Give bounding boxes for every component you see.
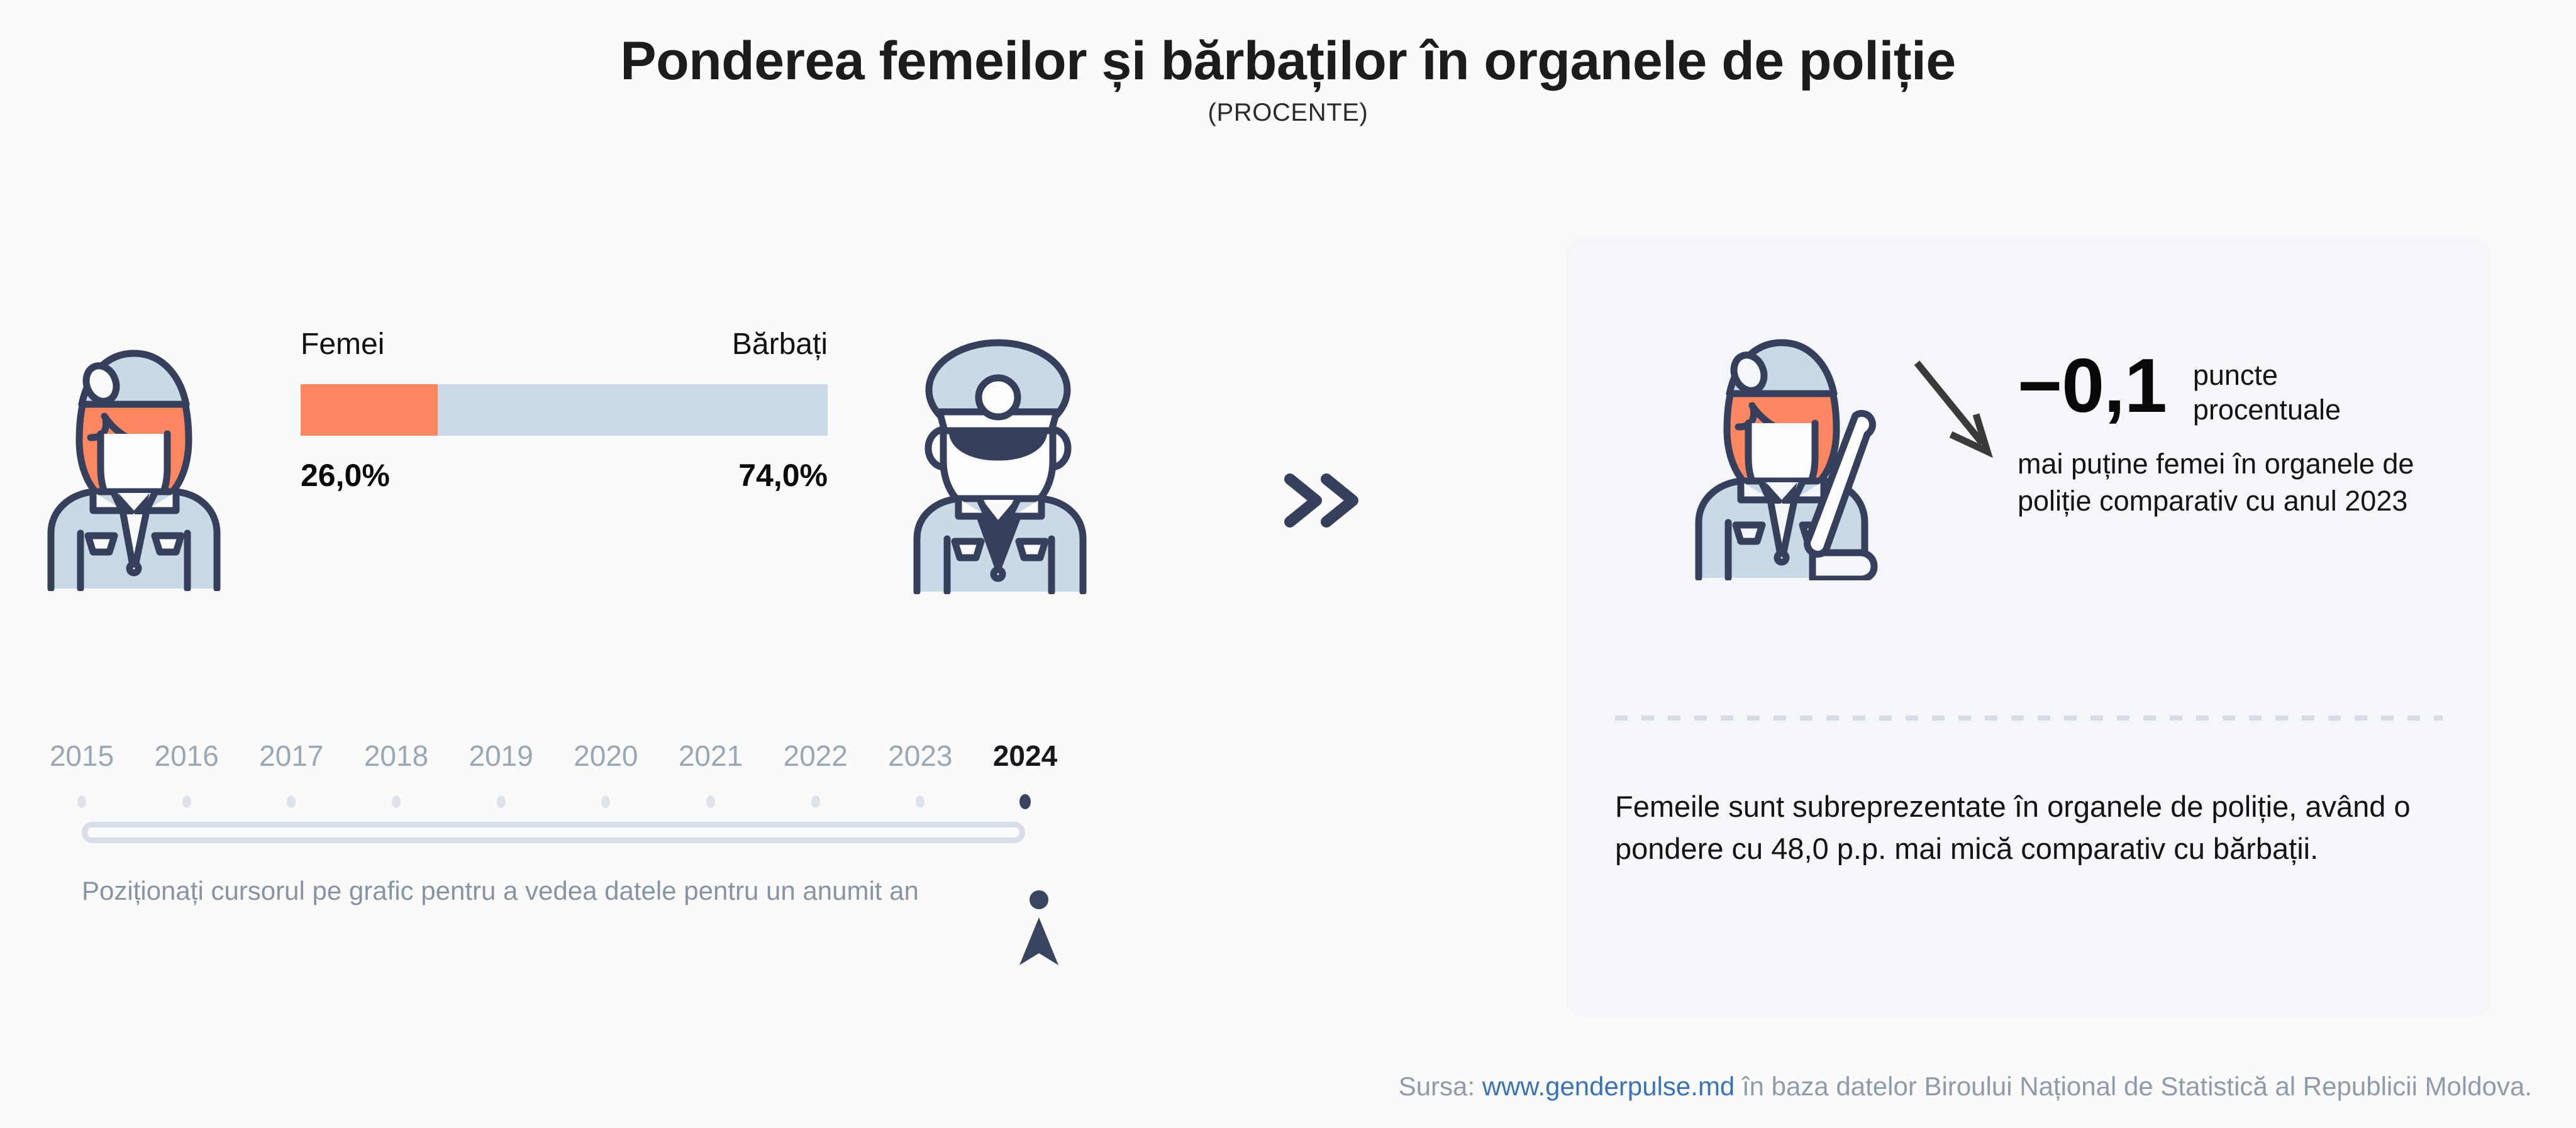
infographic-root: Ponderea femeilor și bărbaților în organ… [0,0,2576,1128]
stat-unit-line1: puncte [2193,358,2341,393]
timeline-year-2016[interactable]: 2016 [154,739,218,773]
female-officer-with-baton-icon [1678,304,1885,583]
timeline-year-2015[interactable]: 2015 [50,739,114,773]
timeline-year-2023[interactable]: 2023 [888,739,952,773]
timeline-dot-2022[interactable] [811,795,820,808]
stacked-bar-chart: Femei Bărbați 26,0% 74,0% [301,327,828,494]
timeline-dot-2016[interactable] [182,795,191,808]
timeline-year-2020[interactable]: 2020 [574,739,638,773]
bar-value-men: 74,0% [738,457,828,494]
double-chevron-right-icon [1280,470,1363,534]
bar-track[interactable] [301,384,828,436]
timeline-dot-2021[interactable] [706,795,715,808]
timeline-year-labels[interactable]: 2015201620172018201920202021202220232024 [82,739,1063,784]
bar-value-women: 26,0% [301,457,390,494]
timeline-hint: Poziționați cursorul pe grafic pentru a … [82,876,1063,906]
timeline-slider-track[interactable] [82,822,1025,843]
male-officer-icon [901,324,1096,597]
down-trend-arrow-icon [1906,354,2006,467]
timeline-year-2018[interactable]: 2018 [364,739,428,773]
stat-highlight: −0,1 puncte procentuale [2018,350,2341,428]
source-link[interactable]: www.genderpulse.md [1482,1071,1735,1101]
timeline-dot-2024[interactable] [1019,794,1031,809]
timeline-year-2022[interactable]: 2022 [783,739,847,773]
timeline-dot-2019[interactable] [497,795,506,808]
bar-values: 26,0% 74,0% [301,457,828,494]
timeline-dot-2015[interactable] [77,795,86,808]
insight-panel: −0,1 puncte procentuale mai puține femei… [1566,238,2490,1017]
timeline-slider-handle[interactable] [1017,890,1061,975]
panel-note: Femeile sunt subreprezentate în organele… [1615,786,2439,870]
female-officer-icon [30,314,238,594]
timeline-dot-2020[interactable] [601,795,610,808]
page-subtitle: (PROCENTE) [0,99,2576,127]
timeline-year-2019[interactable]: 2019 [469,739,533,773]
timeline-year-2017[interactable]: 2017 [259,739,323,773]
bar-label-women: Femei [301,327,384,362]
timeline-year-2021[interactable]: 2021 [679,739,743,773]
source-prefix: Sursa: [1399,1071,1482,1101]
year-timeline[interactable]: 2015201620172018201920202021202220232024… [82,739,1063,906]
bar-labels: Femei Bărbați [301,327,828,362]
stat-unit-line2: procentuale [2193,393,2341,428]
stat-description: mai puține femei în organele de poliție … [2018,445,2451,520]
header: Ponderea femeilor și bărbaților în organ… [0,33,2576,127]
stat-value: −0,1 [2018,350,2167,423]
stat-unit: puncte procentuale [2193,358,2341,428]
panel-divider [1615,716,2443,721]
page-title: Ponderea femeilor și bărbaților în organ… [0,33,2576,90]
source-footer: Sursa: www.genderpulse.md în baza datelo… [1399,1071,2532,1102]
timeline-dot-2023[interactable] [916,795,924,808]
bar-label-men: Bărbați [732,327,828,362]
bar-segment-women[interactable] [301,384,438,436]
timeline-dot-2017[interactable] [287,795,296,808]
timeline-dot-2018[interactable] [392,795,401,808]
timeline-year-2024[interactable]: 2024 [993,739,1057,773]
timeline-dots[interactable] [82,793,1063,818]
bar-segment-men[interactable] [438,384,828,436]
source-suffix: în baza datelor Biroului Național de Sta… [1735,1071,2532,1101]
